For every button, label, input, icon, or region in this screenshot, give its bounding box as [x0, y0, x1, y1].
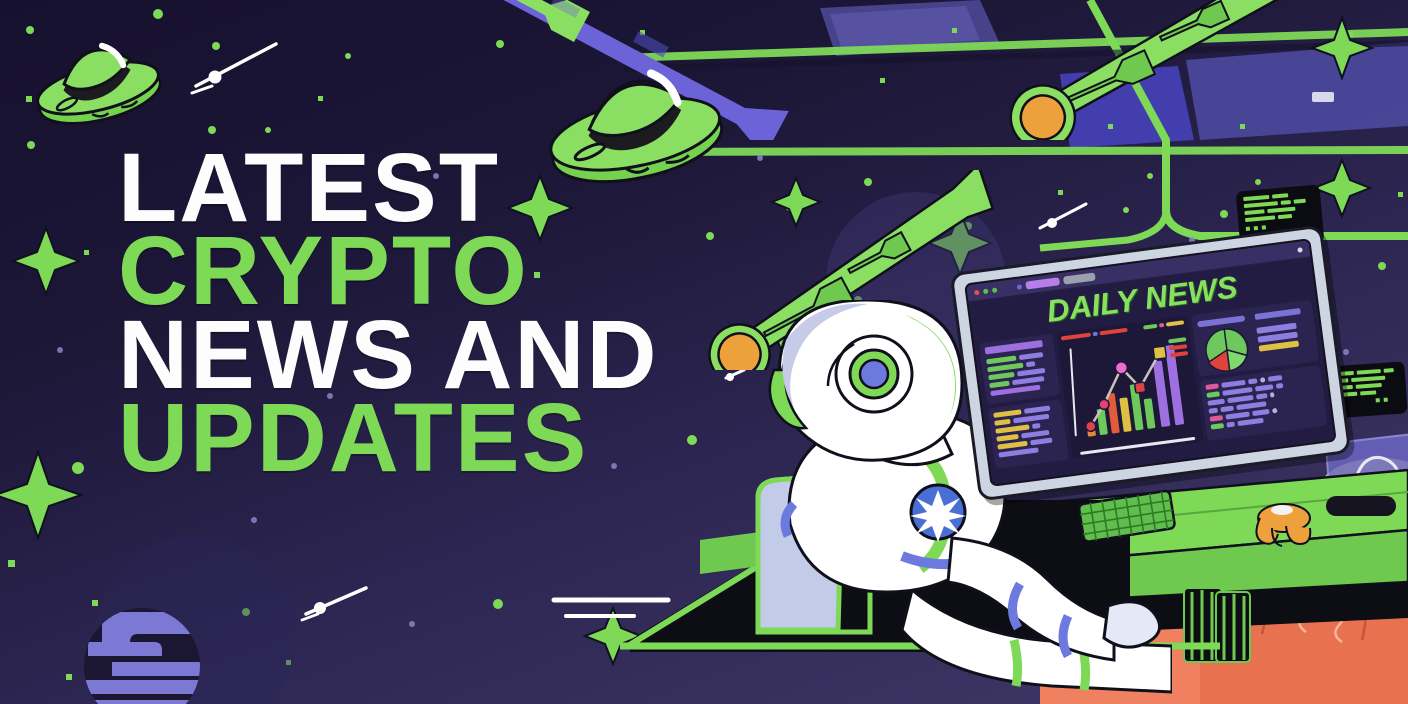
data-bar — [989, 381, 1009, 389]
data-bar — [994, 419, 1011, 426]
window-maximize-dot[interactable] — [992, 287, 998, 293]
data-bar — [1270, 392, 1275, 397]
tag-chip — [1211, 423, 1225, 430]
data-bar — [1207, 399, 1225, 406]
window-minimize-dot[interactable] — [983, 288, 989, 294]
chart-side-legend — [1168, 337, 1188, 357]
tag-chip — [1205, 383, 1219, 390]
address-bar[interactable] — [1063, 273, 1096, 285]
data-bar — [1260, 377, 1266, 383]
data-bar — [1026, 361, 1036, 367]
data-bar — [1259, 341, 1299, 352]
headline-block: LATEST CRYPTO NEWS AND UPDATES — [118, 146, 659, 480]
data-bar — [1276, 383, 1284, 389]
data-bar — [1254, 308, 1300, 320]
data-bar — [1248, 378, 1258, 384]
tab-favicon-dot — [1017, 284, 1023, 290]
pie-chart — [1198, 325, 1256, 379]
left-panel-bottom — [988, 399, 1069, 469]
headline-line-4: UPDATES — [118, 396, 659, 479]
green-ufo-small — [28, 30, 168, 150]
data-bar — [1208, 408, 1218, 414]
green-canisters — [1184, 588, 1250, 662]
data-bar — [1221, 380, 1245, 388]
window-close-dot[interactable] — [974, 289, 980, 295]
comet-green-right — [960, 0, 1408, 140]
data-bar — [1220, 406, 1234, 413]
left-panel-top — [979, 334, 1060, 405]
menu-dot[interactable] — [1297, 247, 1303, 253]
data-bar — [1032, 423, 1041, 429]
tag-chip — [1206, 391, 1220, 398]
browser-tab[interactable] — [1025, 277, 1060, 289]
pie-panel — [1191, 299, 1319, 376]
data-bar — [993, 409, 1021, 418]
crypto-news-banner: DAILY NEWS — [0, 0, 1408, 704]
tag-chip — [1210, 415, 1224, 422]
data-bar — [1226, 422, 1235, 428]
data-bar — [1019, 352, 1043, 360]
astronaut-glove — [1104, 602, 1160, 647]
data-bar — [1024, 406, 1050, 414]
data-bar — [1268, 375, 1283, 382]
chart-panel — [1056, 316, 1203, 459]
data-bar — [1252, 409, 1270, 416]
data-bar — [1256, 393, 1268, 399]
data-bar — [1272, 408, 1278, 414]
desktop-monitor[interactable]: DAILY NEWS — [950, 225, 1352, 502]
plot-area — [1062, 327, 1198, 442]
data-bar — [1255, 384, 1273, 391]
